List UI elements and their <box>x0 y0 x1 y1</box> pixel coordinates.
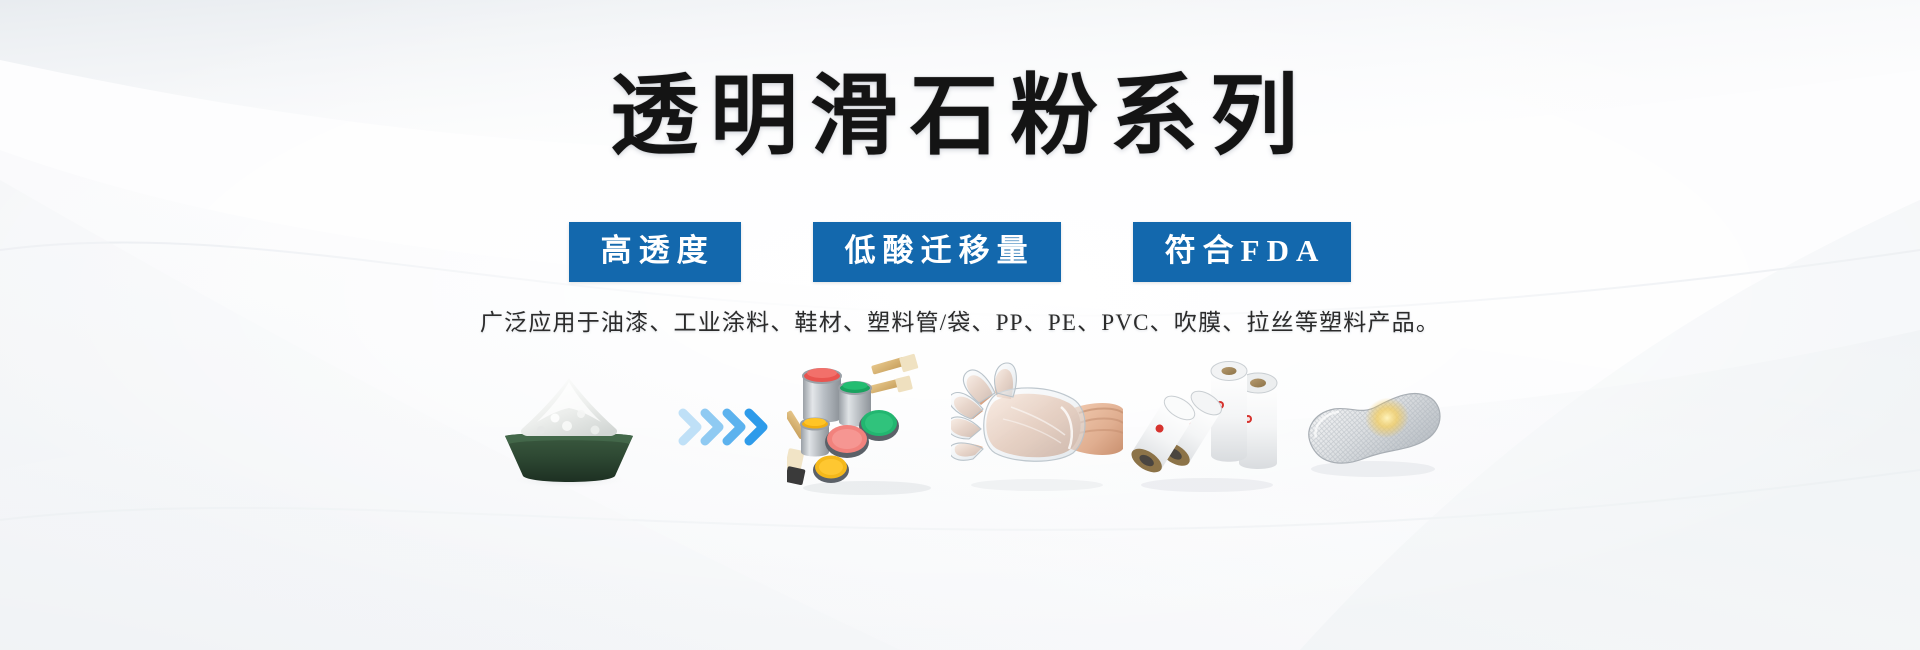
description-container: 广泛应用于油漆、工业涂料、鞋材、塑料管/袋、PP、PE、PVC、吹膜、拉丝等塑料… <box>0 303 1920 337</box>
paint-lid-yellow <box>813 456 849 484</box>
process-arrows-figure <box>673 352 783 502</box>
shoe-sole-figure <box>1291 352 1451 502</box>
talc-powder-bowl-icon <box>469 352 669 502</box>
paint-cans-icon <box>787 352 947 502</box>
application-description: 广泛应用于油漆、工业涂料、鞋材、塑料管/袋、PP、PE、PVC、吹膜、拉丝等塑料… <box>0 303 1920 337</box>
plastic-gloves-figure <box>951 352 1123 502</box>
paint-can-yellow <box>801 418 829 457</box>
film-roll-icon <box>1127 357 1287 497</box>
feature-badge-high-transparency[interactable]: 高透度 <box>569 222 741 282</box>
chevron-right-arrows-icon <box>673 397 783 457</box>
headline-container: 透明滑石粉系列 <box>0 74 1920 162</box>
plastic-film-rolls-figure <box>1127 352 1287 502</box>
paint-cans-figure <box>787 352 947 502</box>
plastic-glove-hand-icon <box>951 357 1123 497</box>
shoe-sole-icon <box>1291 357 1451 497</box>
paint-can-red <box>803 368 841 423</box>
feature-badge-fda-compliant[interactable]: 符合FDA <box>1133 222 1352 282</box>
paint-brush-1 <box>871 354 919 375</box>
page-title: 透明滑石粉系列 <box>0 74 1920 162</box>
application-figure-strip <box>0 352 1920 502</box>
feature-badge-low-acid-migration[interactable]: 低酸迁移量 <box>813 222 1061 282</box>
product-banner: 透明滑石粉系列 高透度 低酸迁移量 符合FDA 广泛应用于油漆、工业涂料、鞋材、… <box>0 0 1920 650</box>
feature-badge-list: 高透度 低酸迁移量 符合FDA <box>0 222 1920 282</box>
talc-powder-bowl-figure <box>469 352 669 502</box>
paint-brush-2 <box>869 375 913 393</box>
